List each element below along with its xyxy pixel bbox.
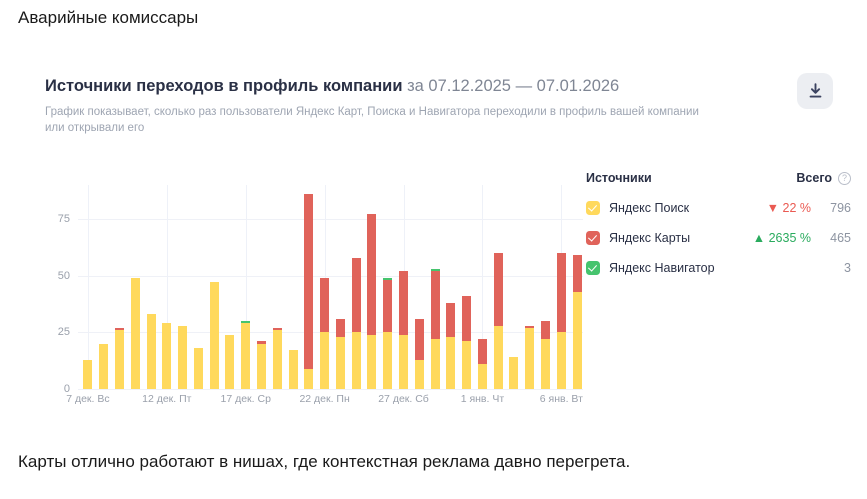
x-axis-tick: 1 янв. Чт xyxy=(461,393,504,405)
legend-header: Источники Всего ? xyxy=(586,170,851,186)
bar-segment xyxy=(431,271,440,339)
bar-segment xyxy=(415,319,424,360)
legend-row[interactable]: Яндекс Карты▲ 2635 %465 xyxy=(586,229,851,246)
bar-segment xyxy=(241,323,250,389)
x-axis-tick: 6 янв. Вт xyxy=(540,393,583,405)
bar-segment xyxy=(367,214,376,334)
legend-total: 796 xyxy=(821,201,851,215)
bar-segment xyxy=(557,253,566,332)
chart-bar[interactable] xyxy=(446,303,455,389)
legend-delta: ▲ 2635 % xyxy=(753,231,811,245)
grid-area xyxy=(78,185,583,389)
gridline xyxy=(78,389,583,390)
download-icon xyxy=(808,83,823,99)
bar-segment xyxy=(525,328,534,389)
download-button[interactable] xyxy=(797,73,833,109)
caption-top: Аварийные комиссары xyxy=(18,6,198,30)
x-axis-tick: 12 дек. Пт xyxy=(142,393,191,405)
bar-series xyxy=(78,185,583,389)
page-title: Источники переходов в профиль компании з… xyxy=(45,75,745,97)
chart-bar[interactable] xyxy=(210,282,219,389)
legend-row[interactable]: Яндекс Поиск▼ 22 %796 xyxy=(586,199,851,216)
bar-segment xyxy=(83,360,92,389)
chart-bar[interactable] xyxy=(162,323,171,389)
y-axis: 0255075 xyxy=(38,185,78,389)
bar-segment xyxy=(352,258,361,333)
legend-checkbox[interactable] xyxy=(586,231,600,245)
card-title-main: Источники переходов в профиль компании xyxy=(45,77,402,95)
bar-segment xyxy=(573,292,582,389)
bar-segment xyxy=(336,319,345,337)
bar-segment xyxy=(194,348,203,389)
bar-segment xyxy=(178,326,187,389)
chart-bar[interactable] xyxy=(273,328,282,389)
chart-bar[interactable] xyxy=(431,269,440,389)
chart-bar[interactable] xyxy=(336,319,345,389)
bar-segment xyxy=(573,255,582,291)
y-axis-tick: 50 xyxy=(58,270,70,282)
bar-segment xyxy=(210,282,219,389)
bar-segment xyxy=(273,330,282,389)
chart-bar[interactable] xyxy=(83,360,92,389)
chart-bar[interactable] xyxy=(367,214,376,389)
chart-bar[interactable] xyxy=(131,278,140,389)
bar-segment xyxy=(367,335,376,389)
bar-segment xyxy=(557,332,566,389)
chart-bar[interactable] xyxy=(573,255,582,389)
chart-bar[interactable] xyxy=(541,321,550,389)
chart-bar[interactable] xyxy=(462,296,471,389)
card-title-period: за 07.12.2025 — 07.01.2026 xyxy=(407,77,619,95)
x-axis-tick: 27 дек. Сб xyxy=(378,393,429,405)
chart-bar[interactable] xyxy=(225,335,234,389)
bar-segment xyxy=(131,278,140,389)
bar-segment xyxy=(115,330,124,389)
question-mark-icon[interactable]: ? xyxy=(838,172,851,185)
chart-bar[interactable] xyxy=(241,321,250,389)
bar-segment xyxy=(541,321,550,339)
chart-bar[interactable] xyxy=(494,253,503,389)
chart-bar[interactable] xyxy=(352,258,361,389)
bar-segment xyxy=(162,323,171,389)
chart-bar[interactable] xyxy=(525,326,534,389)
legend-label: Яндекс Навигатор xyxy=(609,261,811,275)
chart-bar[interactable] xyxy=(194,348,203,389)
bar-segment xyxy=(415,360,424,389)
chart-bar[interactable] xyxy=(320,278,329,389)
bar-segment xyxy=(320,278,329,332)
bar-segment xyxy=(257,344,266,389)
bar-segment xyxy=(446,303,455,337)
chart-bar[interactable] xyxy=(115,328,124,389)
card-header: Источники переходов в профиль компании з… xyxy=(45,75,745,136)
x-axis-tick: 7 дек. Вс xyxy=(66,393,109,405)
chart-bar[interactable] xyxy=(557,253,566,389)
chart-plot-area: 0255075 7 дек. Вс12 дек. Пт17 дек. Ср22 … xyxy=(38,185,583,413)
bar-segment xyxy=(541,339,550,389)
bar-segment xyxy=(462,341,471,389)
bar-segment xyxy=(289,350,298,389)
bar-segment xyxy=(99,344,108,389)
chart-bar[interactable] xyxy=(257,341,266,389)
legend-rows: Яндекс Поиск▼ 22 %796Яндекс Карты▲ 2635 … xyxy=(586,199,851,276)
legend-delta: ▼ 22 % xyxy=(767,201,811,215)
bar-segment xyxy=(478,339,487,364)
bar-segment xyxy=(383,332,392,389)
chart-legend: Источники Всего ? Яндекс Поиск▼ 22 %796Я… xyxy=(586,170,851,289)
legend-label: Яндекс Поиск xyxy=(609,201,767,215)
bar-segment xyxy=(399,335,408,389)
y-axis-tick: 75 xyxy=(58,213,70,225)
sources-chart-card: Источники переходов в профиль компании з… xyxy=(18,55,850,430)
legend-header-sources: Источники xyxy=(586,171,796,185)
card-subtitle: График показывает, сколько раз пользоват… xyxy=(45,104,705,136)
bar-segment xyxy=(494,253,503,326)
legend-row[interactable]: Яндекс Навигатор3 xyxy=(586,259,851,276)
x-axis-tick: 17 дек. Ср xyxy=(220,393,270,405)
chart-bar[interactable] xyxy=(509,357,518,389)
chart-bar[interactable] xyxy=(415,319,424,389)
chart-bar[interactable] xyxy=(178,326,187,389)
chart-bar[interactable] xyxy=(383,278,392,389)
bar-segment xyxy=(383,280,392,332)
chart-bar[interactable] xyxy=(399,271,408,389)
bar-segment xyxy=(446,337,455,389)
y-axis-tick: 25 xyxy=(58,326,70,338)
x-axis-tick: 22 дек. Пн xyxy=(299,393,349,405)
legend-total: 3 xyxy=(821,261,851,275)
legend-label: Яндекс Карты xyxy=(609,231,753,245)
bar-segment xyxy=(494,326,503,389)
chart-bar[interactable] xyxy=(289,350,298,389)
legend-total: 465 xyxy=(821,231,851,245)
bar-segment xyxy=(147,314,156,389)
x-axis: 7 дек. Вс12 дек. Пт17 дек. Ср22 дек. Пн2… xyxy=(78,393,583,411)
legend-header-total: Всего xyxy=(796,171,832,185)
bar-segment xyxy=(320,332,329,389)
bar-segment xyxy=(478,364,487,389)
bar-segment xyxy=(431,339,440,389)
legend-checkbox[interactable] xyxy=(586,201,600,215)
chart-bar[interactable] xyxy=(478,339,487,389)
bar-segment xyxy=(352,332,361,389)
legend-checkbox[interactable] xyxy=(586,261,600,275)
bar-segment xyxy=(304,369,313,389)
chart-bar[interactable] xyxy=(99,344,108,389)
bar-segment xyxy=(509,357,518,389)
chart-bar[interactable] xyxy=(147,314,156,389)
bar-segment xyxy=(304,194,313,369)
bar-segment xyxy=(462,296,471,341)
bar-segment xyxy=(225,335,234,389)
chart-bar[interactable] xyxy=(304,194,313,389)
bar-segment xyxy=(399,271,408,334)
bar-segment xyxy=(336,337,345,389)
caption-bottom: Карты отлично работают в нишах, где конт… xyxy=(18,450,630,474)
